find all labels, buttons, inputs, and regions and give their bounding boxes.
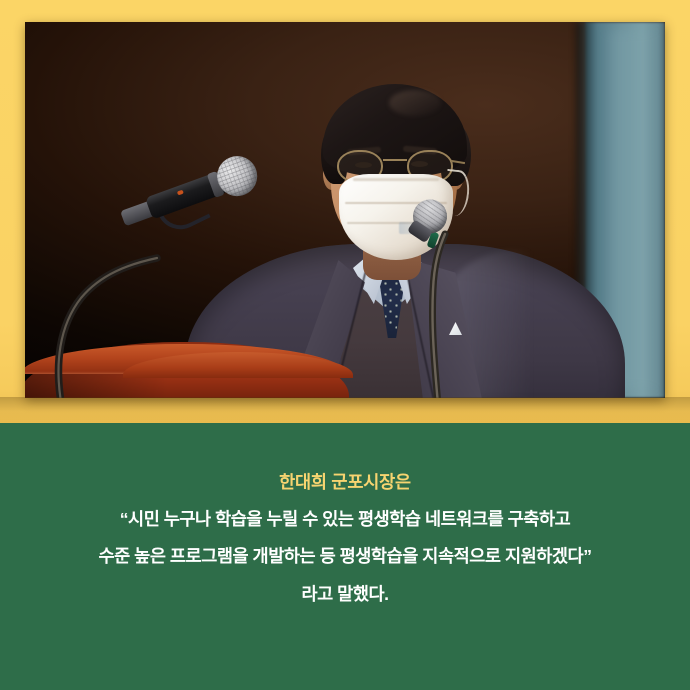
quote-headline: 한대희 군포시장은 [279,474,411,492]
glasses-bridge [383,159,407,161]
photo-inner [25,22,665,398]
hair-highlight [389,90,441,116]
microphone-stand-left [53,254,161,398]
promo-card: 한대희 군포시장은 “시민 누구나 학습을 누릴 수 있는 평생학습 네트워크를… [0,0,690,690]
quote-line-1: “시민 누구나 학습을 누릴 수 있는 평생학습 네트워크를 구축하고 [120,511,571,529]
quote-line-3: 라고 말했다. [301,586,388,604]
speech-photo [25,22,665,398]
quote-panel: 한대희 군포시장은 “시민 누구나 학습을 누릴 수 있는 평생학습 네트워크를… [0,423,690,690]
mask-nose-wire [353,178,439,181]
quote-line-2: 수준 높은 프로그램을 개발하는 등 평생학습을 지속적으로 지원하겠다” [98,548,591,566]
photo-frame [0,0,690,423]
